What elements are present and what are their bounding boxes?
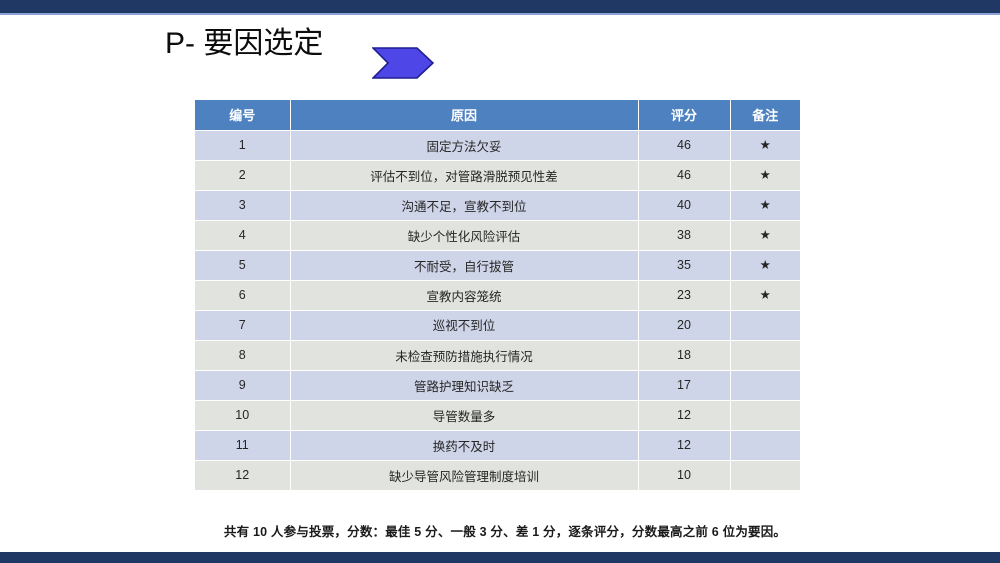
table-row: 8未检查预防措施执行情况18 <box>195 340 800 370</box>
cell-score: 35 <box>638 250 730 280</box>
cell-no: 6 <box>195 280 290 310</box>
cell-score: 18 <box>638 340 730 370</box>
cell-cause: 管路护理知识缺乏 <box>290 370 638 400</box>
star-icon <box>730 370 800 400</box>
footnote-text: 共有 10 人参与投票，分数：最佳 5 分、一般 3 分、差 1 分，逐条评分，… <box>175 521 835 540</box>
cell-cause: 缺少导管风险管理制度培训 <box>290 460 638 490</box>
factors-table-body: 1固定方法欠妥46★2评估不到位，对管路滑脱预见性差46★3沟通不足，宣教不到位… <box>195 130 800 490</box>
star-icon <box>730 340 800 370</box>
star-icon: ★ <box>730 190 800 220</box>
table-row: 4缺少个性化风险评估38★ <box>195 220 800 250</box>
cell-cause: 宣教内容笼统 <box>290 280 638 310</box>
cell-score: 10 <box>638 460 730 490</box>
cell-cause: 缺少个性化风险评估 <box>290 220 638 250</box>
cell-cause: 巡视不到位 <box>290 310 638 340</box>
cell-score: 46 <box>638 130 730 160</box>
cell-no: 3 <box>195 190 290 220</box>
cell-score: 20 <box>638 310 730 340</box>
column-header-mark: 备注 <box>730 100 800 130</box>
table-row: 12缺少导管风险管理制度培训10 <box>195 460 800 490</box>
cell-no: 5 <box>195 250 290 280</box>
cell-cause: 评估不到位，对管路滑脱预见性差 <box>290 160 638 190</box>
cell-score: 38 <box>638 220 730 250</box>
table-row: 6宣教内容笼统23★ <box>195 280 800 310</box>
cell-no: 11 <box>195 430 290 460</box>
cell-no: 12 <box>195 460 290 490</box>
column-header-cause: 原因 <box>290 100 638 130</box>
cell-score: 23 <box>638 280 730 310</box>
table-row: 10导管数量多12 <box>195 400 800 430</box>
cell-score: 12 <box>638 400 730 430</box>
column-header-score: 评分 <box>638 100 730 130</box>
cell-no: 9 <box>195 370 290 400</box>
cell-no: 7 <box>195 310 290 340</box>
top-decorative-band <box>0 0 1000 13</box>
cell-no: 8 <box>195 340 290 370</box>
table-row: 1固定方法欠妥46★ <box>195 130 800 160</box>
star-icon <box>730 310 800 340</box>
bottom-decorative-band <box>0 552 1000 563</box>
column-header-no: 编号 <box>195 100 290 130</box>
cell-cause: 未检查预防措施执行情况 <box>290 340 638 370</box>
table-row: 5不耐受，自行拔管35★ <box>195 250 800 280</box>
star-icon: ★ <box>730 160 800 190</box>
table-row: 2评估不到位，对管路滑脱预见性差46★ <box>195 160 800 190</box>
chevron-right-arrow-icon <box>372 47 434 79</box>
star-icon: ★ <box>730 280 800 310</box>
factors-table-container: 编号 原因 评分 备注 1固定方法欠妥46★2评估不到位，对管路滑脱预见性差46… <box>195 100 800 491</box>
cell-cause: 固定方法欠妥 <box>290 130 638 160</box>
cell-cause: 沟通不足，宣教不到位 <box>290 190 638 220</box>
cell-no: 2 <box>195 160 290 190</box>
cell-cause: 不耐受，自行拔管 <box>290 250 638 280</box>
star-icon <box>730 460 800 490</box>
cell-no: 1 <box>195 130 290 160</box>
cell-score: 46 <box>638 160 730 190</box>
cell-no: 4 <box>195 220 290 250</box>
cell-no: 10 <box>195 400 290 430</box>
table-header-row: 编号 原因 评分 备注 <box>195 100 800 130</box>
table-row: 7巡视不到位20 <box>195 310 800 340</box>
top-accent-line <box>0 13 1000 15</box>
slide-canvas: P- 要因选定 编号 原因 评分 备注 1固定方法欠妥46★2评估不到位，对管路… <box>0 0 1000 563</box>
cell-cause: 导管数量多 <box>290 400 638 430</box>
star-icon: ★ <box>730 220 800 250</box>
table-row: 9管路护理知识缺乏17 <box>195 370 800 400</box>
cell-cause: 换药不及时 <box>290 430 638 460</box>
cell-score: 40 <box>638 190 730 220</box>
star-icon: ★ <box>730 130 800 160</box>
cell-score: 12 <box>638 430 730 460</box>
table-row: 11换药不及时12 <box>195 430 800 460</box>
factors-table: 编号 原因 评分 备注 1固定方法欠妥46★2评估不到位，对管路滑脱预见性差46… <box>195 100 800 491</box>
star-icon <box>730 400 800 430</box>
table-row: 3沟通不足，宣教不到位40★ <box>195 190 800 220</box>
cell-score: 17 <box>638 370 730 400</box>
page-title: P- 要因选定 <box>165 24 330 64</box>
star-icon <box>730 430 800 460</box>
star-icon: ★ <box>730 250 800 280</box>
